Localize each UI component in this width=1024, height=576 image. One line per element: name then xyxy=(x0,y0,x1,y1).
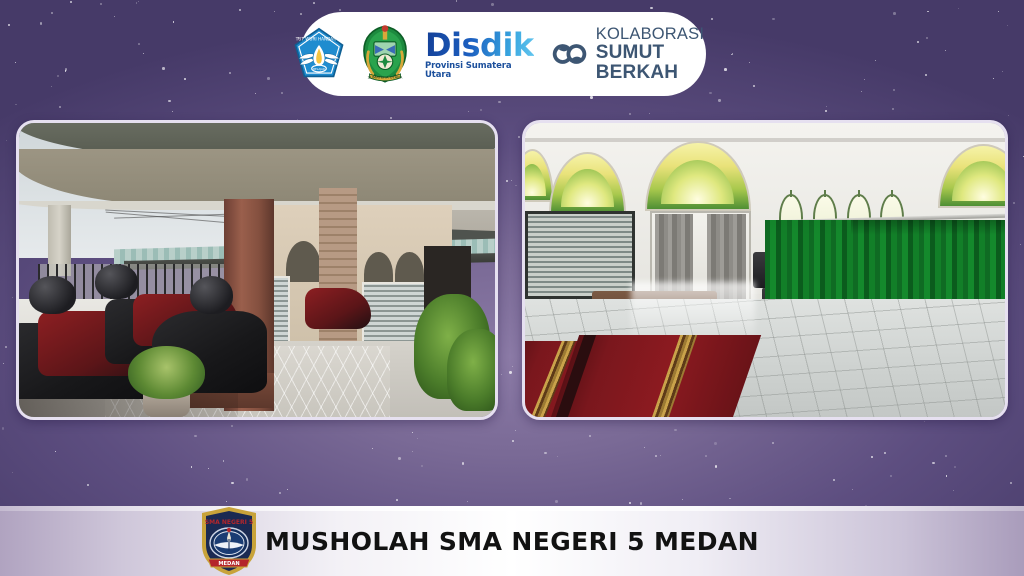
kolaborasi-sumut-berkah-logo: KOLABORASI SUMUT BERKAH xyxy=(552,26,715,83)
sumatera-utara-provincial-logo: SUMATERA UTARA xyxy=(357,23,413,85)
logo-banner: TUT WURI HANDAYANI BELAJAR xyxy=(300,12,706,96)
kolaborasi-line1-text: KOLABORASI xyxy=(596,26,715,43)
disdik-word-text: Disdik xyxy=(425,29,534,61)
disdik-wordmark: Disdik Provinsi Sumatera Utara xyxy=(425,29,534,79)
photo-mosque-exterior xyxy=(16,120,498,420)
slide-canvas: TUT WURI HANDAYANI BELAJAR xyxy=(0,0,1024,576)
svg-text:SUMATERA UTARA: SUMATERA UTARA xyxy=(368,74,403,79)
svg-text:TUT WURI HANDAYANI: TUT WURI HANDAYANI xyxy=(295,37,343,42)
tut-wuri-handayani-logo: TUT WURI HANDAYANI BELAJAR xyxy=(291,26,347,82)
caption-title: MUSHOLAH SMA NEGERI 5 MEDAN xyxy=(0,506,1024,576)
infinity-loop-icon xyxy=(552,39,587,69)
photo-mosque-interior xyxy=(522,120,1008,420)
svg-text:BELAJAR: BELAJAR xyxy=(313,67,325,71)
disdik-subtitle-text: Provinsi Sumatera Utara xyxy=(425,62,534,79)
kolaborasi-line2-text: SUMUT BERKAH xyxy=(596,43,715,83)
